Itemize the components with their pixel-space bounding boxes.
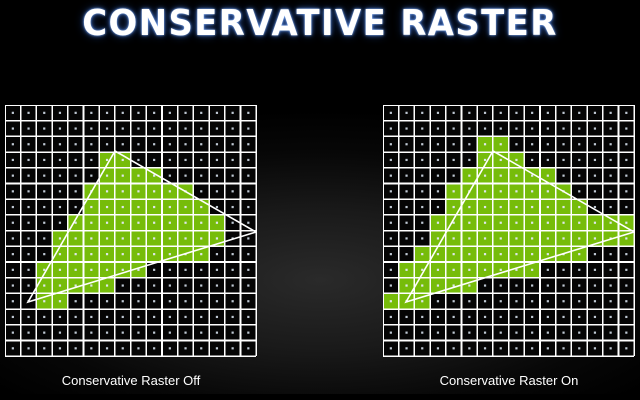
slide-root: CONSERVATIVE RASTER Conservative Raster … bbox=[0, 0, 640, 400]
page-title: CONSERVATIVE RASTER bbox=[19, 2, 621, 46]
caption-conservative-raster-off: Conservative Raster Off bbox=[0, 373, 262, 389]
conservative-raster-off-canvas bbox=[5, 105, 257, 357]
raster-panel-on bbox=[383, 105, 635, 357]
conservative-raster-on-canvas bbox=[383, 105, 635, 357]
raster-panel-off bbox=[5, 105, 257, 357]
caption-conservative-raster-on: Conservative Raster On bbox=[380, 373, 638, 389]
